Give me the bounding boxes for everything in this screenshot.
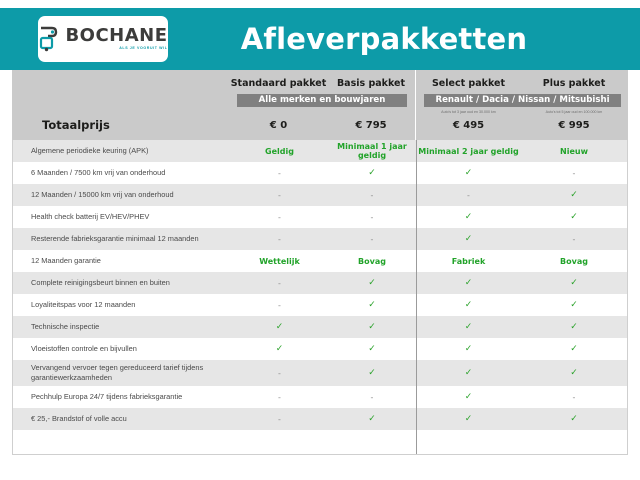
bochane-car-charger-icon [38,26,60,52]
price-plus: € 995 [521,120,627,131]
feature-cell: ✓ [416,168,521,178]
feature-cell: ✓ [328,322,416,332]
feature-cell: ✓ [328,368,416,378]
bochane-logo[interactable]: BOCHANE ALS JE VOORUIT WIL [38,16,168,62]
feature-cell: - [231,393,328,402]
feature-cell: Bovag [328,257,416,266]
feature-label: 12 Maanden / 15000 km vrij van onderhoud [13,190,231,200]
table-rows: Algemene periodieke keuring (APK)GeldigM… [13,140,627,430]
table-row: 12 Maanden / 15000 km vrij van onderhoud… [13,184,627,206]
feature-cell: - [328,213,416,222]
feature-cell: ✓ [328,278,416,288]
feature-cell: ✓ [416,368,521,378]
feature-cell: ✓ [416,278,521,288]
feature-label: Resterende fabrieksgarantie minimaal 12 … [13,234,231,244]
feature-cell: ✓ [521,368,627,378]
table-row: Complete reinigingsbeurt binnen en buite… [13,272,627,294]
feature-cell: - [231,213,328,222]
feature-cell: ✓ [521,344,627,354]
feature-cell: - [521,169,627,178]
table-row: € 25,- Brandstof of volle accu-✓✓✓ [13,408,627,430]
feature-cell: ✓ [416,414,521,424]
table-row: Resterende fabrieksgarantie minimaal 12 … [13,228,627,250]
feature-cell: ✓ [328,344,416,354]
group-pill-all-brands: Alle merken en bouwjaren [237,94,407,107]
price-standaard: € 0 [230,120,327,131]
feature-cell: - [231,301,328,310]
feature-cell: - [231,169,328,178]
feature-label: € 25,- Brandstof of volle accu [13,414,231,424]
feature-cell: ✓ [416,234,521,244]
feature-label: Vervangend vervoer tegen gereduceerd tar… [13,363,231,383]
feature-cell: Wettelijk [231,257,328,266]
feature-cell: Geldig [231,147,328,156]
feature-cell: - [328,235,416,244]
package-name-basis: Basis pakket [327,78,415,89]
group-note-select: Auto's tot 3 jaar oud en 30.000 km [416,110,521,114]
feature-cell: - [231,279,328,288]
feature-cell: - [231,369,328,378]
table-row: Vervangend vervoer tegen gereduceerd tar… [13,360,627,386]
package-name-standaard: Standaard pakket [230,78,327,89]
feature-cell: ✓ [416,300,521,310]
feature-cell: ✓ [521,322,627,332]
feature-cell: ✓ [328,414,416,424]
table-row: Vloeistoffen controle en bijvullen✓✓✓✓ [13,338,627,360]
price-select: € 495 [416,120,521,131]
feature-label: Pechhulp Europa 24/7 tijdens fabrieksgar… [13,392,231,402]
package-name-select: Select pakket [416,78,521,89]
feature-cell: - [521,235,627,244]
table-footer-spacer [13,430,627,455]
feature-cell: Minimaal 2 jaar geldig [416,147,521,156]
feature-cell: - [416,191,521,200]
feature-cell: ✓ [328,168,416,178]
table-group-divider [416,140,417,455]
group-note-plus: Auto's tot 5 jaar oud en 100.000 km [521,110,627,114]
page-banner: BOCHANE ALS JE VOORUIT WIL Afleverpakket… [0,8,640,70]
table-row: Technische inspectie✓✓✓✓ [13,316,627,338]
feature-cell: - [231,191,328,200]
group-pill-renault-dacia-nissan-mitsubishi: Renault / Dacia / Nissan / Mitsubishi [424,94,621,107]
table-row: 6 Maanden / 7500 km vrij van onderhoud-✓… [13,162,627,184]
afleverpakketten-page: BOCHANE ALS JE VOORUIT WIL Afleverpakket… [0,0,640,480]
table-row: Health check batterij EV/HEV/PHEV--✓✓ [13,206,627,228]
feature-cell: ✓ [416,344,521,354]
page-title: Afleverpakketten [168,22,600,56]
feature-cell: Fabriek [416,257,521,266]
feature-label: Loyaliteitspas voor 12 maanden [13,300,231,310]
feature-cell: ✓ [521,414,627,424]
table-row: Algemene periodieke keuring (APK)GeldigM… [13,140,627,162]
table-row: 12 Maanden garantieWettelijkBovagFabriek… [13,250,627,272]
logo-wordmark: BOCHANE [65,27,167,45]
feature-label: Complete reinigingsbeurt binnen en buite… [13,278,231,288]
feature-cell: ✓ [231,322,328,332]
total-price-label: Totaalprijs [42,118,110,132]
price-basis: € 795 [327,120,415,131]
feature-cell: ✓ [231,344,328,354]
feature-cell: ✓ [521,300,627,310]
feature-cell: Nieuw [521,147,627,156]
feature-label: Vloeistoffen controle en bijvullen [13,344,231,354]
feature-cell: Minimaal 1 jaar geldig [328,142,416,160]
feature-cell: ✓ [521,278,627,288]
feature-label: Health check batterij EV/HEV/PHEV [13,212,231,222]
feature-cell: - [328,191,416,200]
feature-cell: ✓ [416,322,521,332]
feature-label: Algemene periodieke keuring (APK) [13,146,231,156]
feature-cell: ✓ [521,190,627,200]
table-row: Loyaliteitspas voor 12 maanden-✓✓✓ [13,294,627,316]
feature-cell: - [521,393,627,402]
feature-cell: - [231,415,328,424]
feature-cell: - [328,393,416,402]
table-row: Pechhulp Europa 24/7 tijdens fabrieksgar… [13,386,627,408]
feature-cell: Bovag [521,257,627,266]
feature-label: 6 Maanden / 7500 km vrij van onderhoud [13,168,231,178]
logo-tagline: ALS JE VOORUIT WIL [119,47,167,51]
features-table: Algemene periodieke keuring (APK)GeldigM… [12,140,628,455]
feature-label: 12 Maanden garantie [13,256,231,266]
feature-cell: ✓ [328,300,416,310]
packages-header: Totaalprijs Standaard pakket Basis pakke… [12,70,628,140]
feature-cell: ✓ [416,392,521,402]
feature-cell: ✓ [416,212,521,222]
feature-cell: ✓ [521,212,627,222]
feature-cell: - [231,235,328,244]
package-name-plus: Plus pakket [521,78,627,89]
feature-label: Technische inspectie [13,322,231,332]
